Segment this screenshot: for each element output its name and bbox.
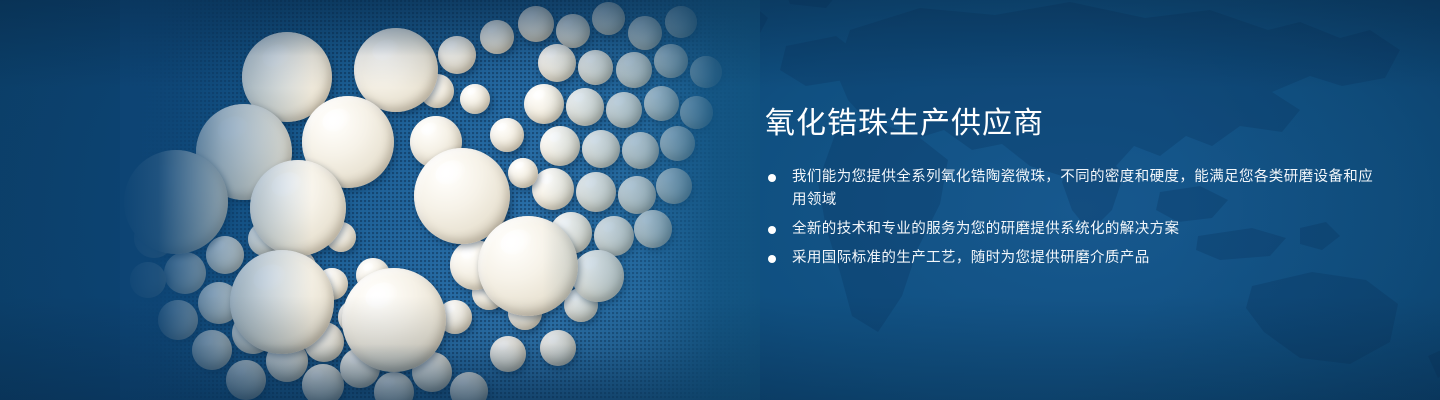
feature-bullet-list: 我们能为您提供全系列氧化锆陶瓷微珠，不同的密度和硬度，能满足您各类研磨设备和应用…: [765, 166, 1385, 270]
page-title: 氧化锆珠生产供应商: [765, 104, 1385, 144]
list-item-text: 采用国际标准的生产工艺，随时为您提供研磨介质产品: [792, 250, 1150, 266]
hero-banner: 氧化锆珠生产供应商 我们能为您提供全系列氧化锆陶瓷微珠，不同的密度和硬度，能满足…: [0, 0, 1440, 400]
list-item-text: 全新的技术和专业的服务为您的研磨提供系统化的解决方案: [792, 221, 1179, 237]
list-item: 我们能为您提供全系列氧化锆陶瓷微珠，不同的密度和硬度，能满足您各类研磨设备和应用…: [765, 166, 1385, 212]
list-item: 全新的技术和专业的服务为您的研磨提供系统化的解决方案: [765, 218, 1385, 241]
bullet-dot-icon: [768, 174, 776, 182]
list-item: 采用国际标准的生产工艺，随时为您提供研磨介质产品: [765, 247, 1385, 270]
bullet-dot-icon: [768, 226, 776, 234]
list-item-text: 我们能为您提供全系列氧化锆陶瓷微珠，不同的密度和硬度，能满足您各类研磨设备和应用…: [792, 169, 1373, 208]
bullet-dot-icon: [768, 255, 776, 263]
banner-text-block: 氧化锆珠生产供应商 我们能为您提供全系列氧化锆陶瓷微珠，不同的密度和硬度，能满足…: [765, 104, 1385, 270]
